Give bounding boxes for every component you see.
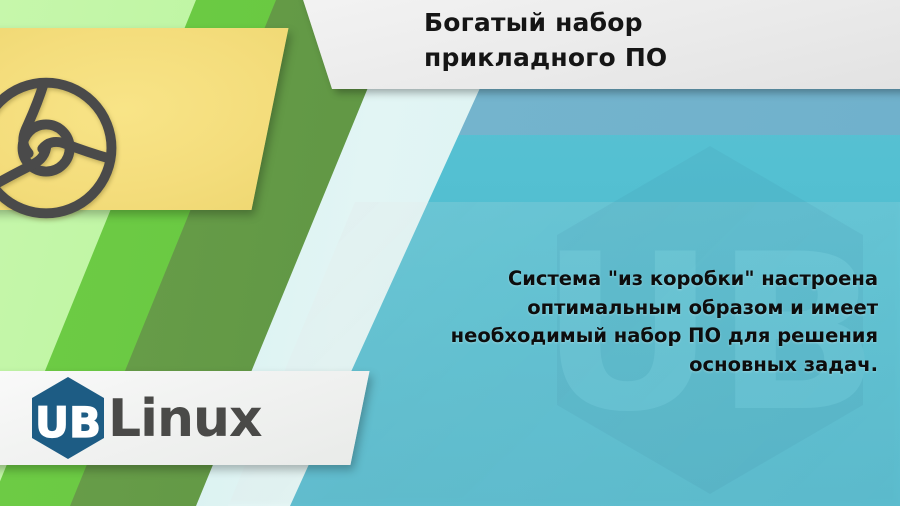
app-icon-card	[0, 28, 289, 210]
page-title: Богатый набор прикладного ПО	[424, 6, 894, 75]
brand-wordmark: Linux	[108, 393, 262, 445]
body-line-3: необходимый набор ПО для решения	[418, 322, 878, 351]
body-paragraph: Система "из коробки" настроена оптимальн…	[418, 265, 878, 380]
presentation-slide: UB Богатый набор прикладного ПО Система …	[0, 0, 900, 506]
body-line-1: Система "из коробки" настроена	[418, 265, 878, 294]
brand-logo: UB Linux	[28, 378, 262, 458]
body-line-2: оптимальным образом и имеет	[418, 294, 878, 323]
title-line-1: Богатый набор	[424, 6, 894, 41]
chromium-aperture-icon	[0, 72, 122, 224]
ub-hexagon-icon: UB	[28, 375, 108, 461]
body-line-4: основных задач.	[418, 351, 878, 380]
title-line-2: прикладного ПО	[424, 41, 894, 76]
svg-text:UB: UB	[35, 398, 101, 447]
